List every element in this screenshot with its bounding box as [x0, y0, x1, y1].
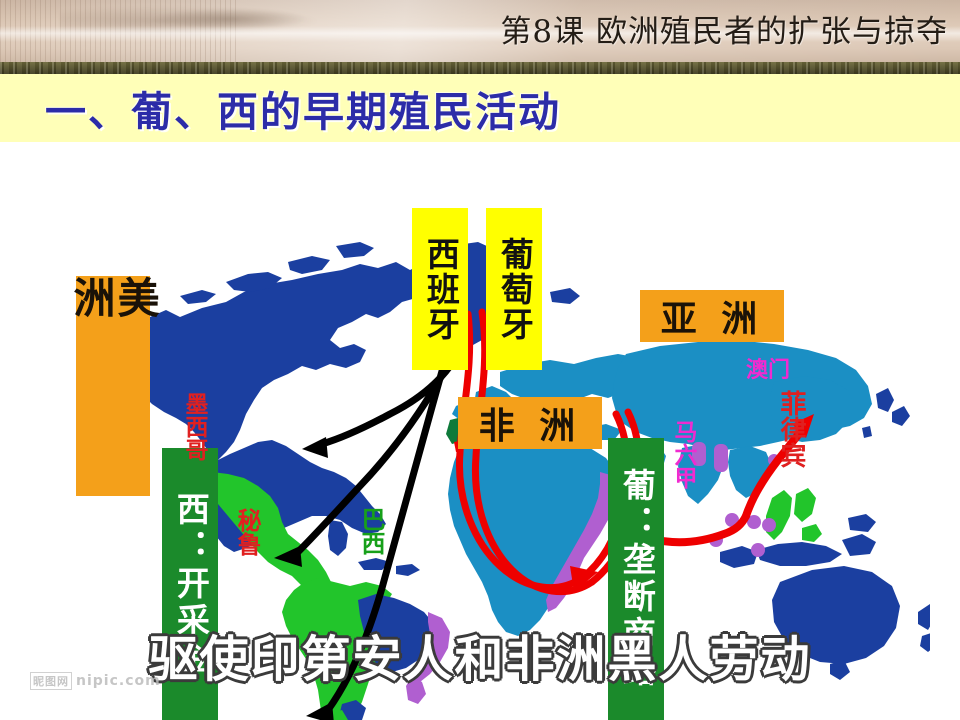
section-banner: 一、葡、西的早期殖民活动 — [0, 74, 960, 142]
label-asia: 亚 洲 — [640, 290, 784, 342]
label-spain: 西班牙 — [412, 208, 468, 370]
watermark: 昵图网nipic.com — [30, 672, 161, 690]
section-title: 一、葡、西的早期殖民活动 — [45, 78, 561, 138]
place-label-mexico: 墨西哥 — [182, 392, 205, 461]
place-label-peru: 秘鲁 — [235, 508, 259, 556]
watermark-badge: 昵图网 — [30, 672, 72, 690]
place-label-brazil: 巴西 — [359, 507, 383, 555]
label-americas: 美 洲 — [76, 276, 150, 496]
label-portugal: 葡萄牙 — [486, 208, 542, 370]
place-label-macau: 澳门 — [746, 360, 790, 382]
header-decorative-band — [0, 62, 960, 74]
watermark-text: nipic.com — [76, 673, 161, 689]
slide-root: 第8课 欧洲殖民者的扩张与掠夺 一、葡、西的早期殖民活动 — [0, 0, 960, 720]
slide-header: 第8课 欧洲殖民者的扩张与掠夺 — [0, 0, 960, 62]
label-africa: 非 洲 — [458, 397, 602, 449]
place-label-philippines: 菲律宾 — [778, 390, 804, 468]
lesson-title: 第8课 欧洲殖民者的扩张与掠夺 — [500, 6, 948, 51]
place-label-malacca: 马六甲 — [671, 420, 694, 489]
